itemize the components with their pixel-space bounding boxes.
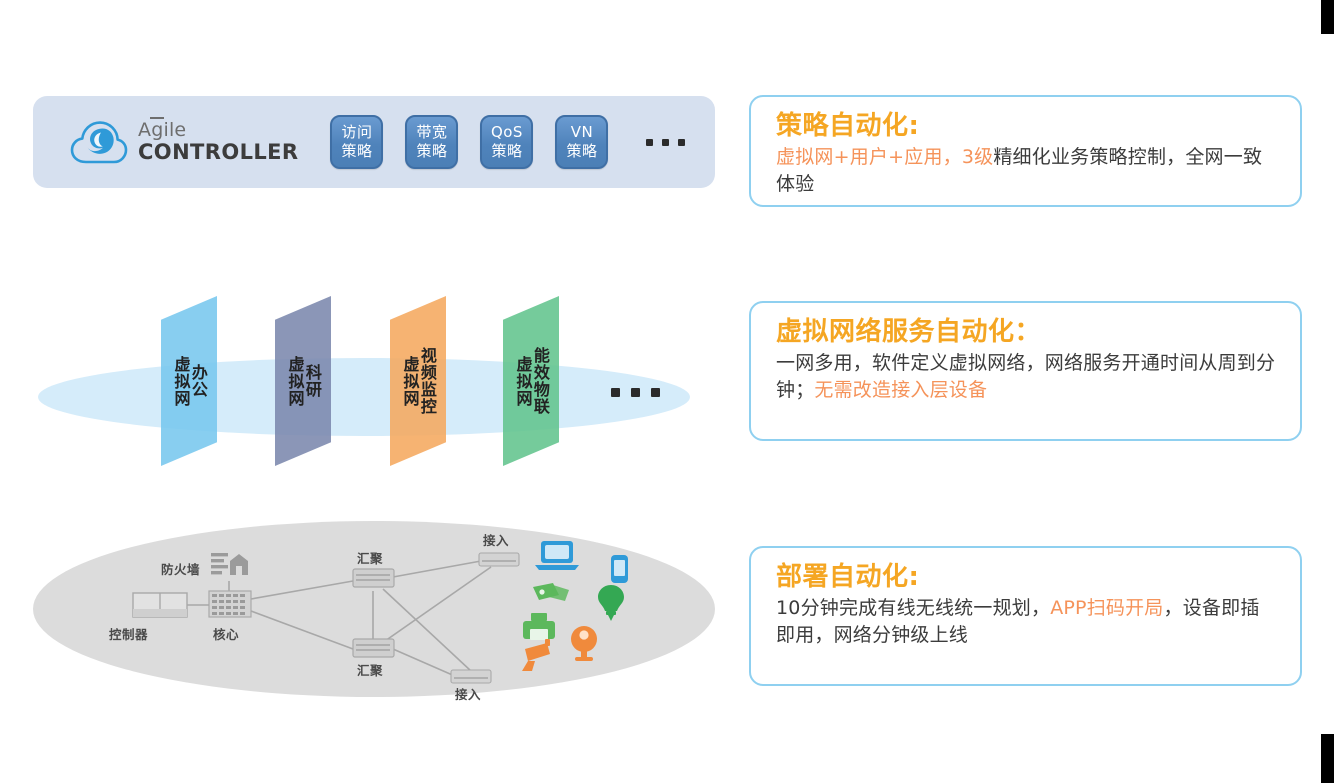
topology-node-core <box>209 591 251 617</box>
panel-title-deployment-automation: 部署自动化: <box>776 562 1278 593</box>
topology-label-agg-lower: 汇聚 <box>357 660 383 679</box>
policy-chip-row: 访问 策略 带宽 策略 QoS 策略 VN 策略 <box>330 115 685 169</box>
agile-controller-logo: Agile CONTROLLER <box>70 119 298 165</box>
policy-chip-qos-line1: QoS <box>491 124 523 142</box>
topology-label-firewall: 防火墙 <box>161 559 200 578</box>
plane-iot-label-left: 虚拟网 <box>514 356 530 407</box>
policy-more-ellipsis-icon <box>646 139 685 146</box>
diagram-canvas: Agile CONTROLLER 访问 策略 带宽 策略 QoS 策略 VN 策… <box>0 0 1334 783</box>
info-panel-deployment-automation: 部署自动化: 10分钟完成有线无线统一规划，APP扫码开局，设备即插即用，网络分… <box>749 546 1302 686</box>
topology-label-controller: 控制器 <box>109 624 148 643</box>
policy-chip-vn-line1: VN <box>571 124 593 142</box>
info-panel-policy-automation: 策略自动化: 虚拟网+用户+应用，3级精细化业务策略控制，全网一致体验 <box>749 95 1302 207</box>
edge-crop-bar-top <box>1321 0 1334 34</box>
topology-node-aggregation-upper <box>353 569 394 587</box>
panel-body-policy-automation: 虚拟网+用户+应用，3级精细化业务策略控制，全网一致体验 <box>776 144 1278 198</box>
panel-body-deployment-automation: 10分钟完成有线无线统一规划，APP扫码开局，设备即插即用，网络分钟级上线 <box>776 595 1278 649</box>
panel-body-vn-service-automation: 一网多用，软件定义虚拟网络，网络服务开通时间从周到分钟；无需改造接入层设备 <box>776 350 1278 404</box>
virtual-network-planes-area: 办公 虚拟网 科研 虚拟网 视频监控 虚拟网 能效物联 虚拟网 <box>33 296 715 496</box>
plane-video-label-right: 视频监控 <box>419 347 435 415</box>
topology-node-firewall <box>211 553 248 575</box>
info-panel-virtual-network-service-automation: 虚拟网络服务自动化： 一网多用，软件定义虚拟网络，网络服务开通时间从周到分钟；无… <box>749 301 1302 441</box>
policy-chip-access[interactable]: 访问 策略 <box>330 115 383 169</box>
plane-video-label-left: 虚拟网 <box>401 356 417 407</box>
plane-office-label-right: 办公 <box>190 364 206 398</box>
agile-controller-wordmark: Agile CONTROLLER <box>138 121 298 163</box>
agile-controller-band: Agile CONTROLLER 访问 策略 带宽 策略 QoS 策略 VN 策… <box>33 96 715 188</box>
policy-chip-bandwidth-line1: 带宽 <box>416 124 447 142</box>
virtual-network-plane-office: 办公 虚拟网 <box>161 296 217 466</box>
topology-node-access-upper <box>479 553 519 566</box>
panel-title-vn-service-automation: 虚拟网络服务自动化： <box>776 317 1278 348</box>
smartphone-icon <box>611 555 628 583</box>
light-bulb-icon <box>598 585 624 621</box>
plane-research-label-right: 科研 <box>304 364 320 398</box>
policy-chip-qos-line2: 策略 <box>491 143 522 161</box>
campus-topology-area: 控制器 防火墙 核心 汇聚 汇聚 接入 接入 <box>33 521 715 697</box>
bullet-camera-icon <box>522 639 550 671</box>
policy-chip-qos[interactable]: QoS 策略 <box>480 115 533 169</box>
plane-office-label-left: 虚拟网 <box>172 356 188 407</box>
plane-iot-label-right: 能效物联 <box>532 347 548 415</box>
panel-body-deploy-part1: 10分钟完成有线无线统一规划， <box>776 597 1050 619</box>
plane-research-label-left: 虚拟网 <box>286 356 302 407</box>
topology-node-controller <box>133 593 187 617</box>
policy-chip-vn-line2: 策略 <box>566 143 597 161</box>
topology-label-agg-upper: 汇聚 <box>357 548 383 567</box>
policy-chip-access-line2: 策略 <box>341 143 372 161</box>
policy-chip-vn[interactable]: VN 策略 <box>555 115 608 169</box>
virtual-network-plane-iot: 能效物联 虚拟网 <box>503 296 559 466</box>
topology-node-access-lower <box>451 670 491 683</box>
virtual-network-plane-research: 科研 虚拟网 <box>275 296 331 466</box>
topology-label-access-lower: 接入 <box>455 684 481 703</box>
policy-chip-bandwidth-line2: 策略 <box>416 143 447 161</box>
virtual-network-more-ellipsis-icon <box>611 388 660 397</box>
cloud-swirl-icon <box>70 119 128 165</box>
panel-body-deploy-highlight: APP扫码开局 <box>1050 597 1163 619</box>
virtual-network-plane-video: 视频监控 虚拟网 <box>390 296 446 466</box>
sensor-tag-icon <box>533 583 569 601</box>
laptop-icon <box>535 541 579 570</box>
logo-line-agile: Agile <box>138 121 298 140</box>
virtual-network-backdrop-ellipse <box>38 358 690 436</box>
policy-chip-bandwidth[interactable]: 带宽 策略 <box>405 115 458 169</box>
dome-camera-icon <box>571 626 597 661</box>
logo-line-controller: CONTROLLER <box>138 142 298 163</box>
topology-label-access-upper: 接入 <box>483 530 509 549</box>
printer-icon <box>523 613 555 640</box>
topology-node-aggregation-lower <box>353 639 394 657</box>
topology-label-core: 核心 <box>213 624 239 643</box>
panel-title-policy-automation: 策略自动化: <box>776 111 1278 142</box>
panel-body-policy-highlight: 虚拟网+用户+应用，3级 <box>776 146 993 168</box>
policy-chip-access-line1: 访问 <box>341 124 372 142</box>
panel-body-vn-highlight: 无需改造接入层设备 <box>814 379 987 401</box>
topology-links <box>161 561 491 677</box>
edge-crop-bar-bottom <box>1321 734 1334 783</box>
